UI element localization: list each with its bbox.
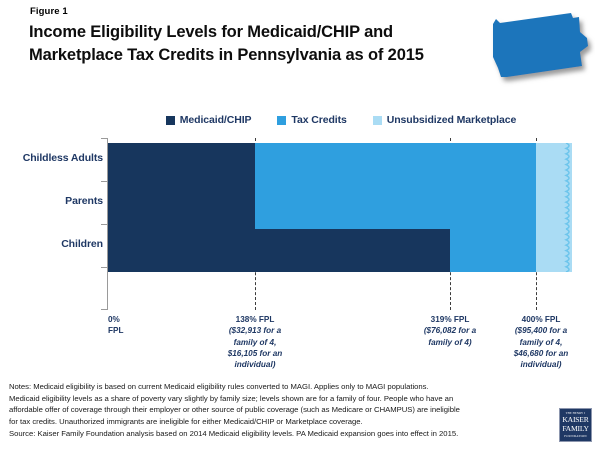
figure-canvas: Figure 1 Income Eligibility Levels for M… bbox=[0, 0, 600, 450]
chart-legend: Medicaid/CHIP Tax Credits Unsubsidized M… bbox=[108, 111, 574, 129]
bar-segment-tax-credits bbox=[255, 186, 536, 229]
bar-segment-medicaid-chip bbox=[108, 229, 450, 272]
x-axis-label-400-fpl: 400% FPL ($95,400 for a family of 4, $46… bbox=[495, 314, 587, 371]
legend-item-tax-credits: Tax Credits bbox=[277, 114, 346, 126]
title-line-2: Marketplace Tax Credits in Pennsylvania … bbox=[29, 44, 499, 67]
legend-item-unsubsidized-marketplace: Unsubsidized Marketplace bbox=[373, 114, 516, 126]
figure-number-label: Figure 1 bbox=[30, 6, 68, 17]
source-line: Source: Kaiser Family Foundation analysi… bbox=[9, 428, 560, 440]
kaiser-family-foundation-logo: THE HENRY J KAISER FAMILY FOUNDATION bbox=[559, 408, 592, 442]
legend-swatch-unsubsidized-marketplace bbox=[373, 116, 382, 125]
chart-footnotes: Notes: Medicaid eligibility is based on … bbox=[9, 381, 560, 440]
bar-row-children bbox=[108, 229, 572, 272]
bar-row-childless-adults bbox=[108, 143, 572, 186]
x-axis-label-0-fpl: 0% FPL bbox=[108, 314, 148, 337]
legend-label-unsubsidized-marketplace: Unsubsidized Marketplace bbox=[387, 114, 516, 126]
legend-label-tax-credits: Tax Credits bbox=[291, 114, 346, 126]
bar-segment-medicaid-chip bbox=[108, 186, 255, 229]
legend-swatch-medicaid-chip bbox=[166, 116, 175, 125]
logo-line-4: FOUNDATION bbox=[564, 434, 587, 438]
x-axis-label-138-fpl: 138% FPL ($32,913 for a family of 4, $16… bbox=[201, 314, 309, 371]
torn-edge-icon bbox=[564, 186, 573, 229]
category-label-parents: Parents bbox=[65, 195, 103, 207]
legend-label-medicaid-chip: Medicaid/CHIP bbox=[180, 114, 252, 126]
notes-line-1: Notes: Medicaid eligibility is based on … bbox=[9, 381, 560, 393]
torn-edge-icon bbox=[564, 229, 573, 272]
bar-segment-tax-credits bbox=[255, 143, 536, 186]
bar-segment-medicaid-chip bbox=[108, 143, 255, 186]
legend-swatch-tax-credits bbox=[277, 116, 286, 125]
y-axis-tick-top bbox=[101, 138, 107, 139]
category-label-children: Children bbox=[61, 238, 103, 250]
x-axis-label-319-fpl: 319% FPL ($76,082 for a family of 4) bbox=[404, 314, 496, 348]
page-title: Income Eligibility Levels for Medicaid/C… bbox=[29, 21, 499, 68]
category-label-childless-adults: Childless Adults bbox=[23, 152, 103, 164]
chart-plot-area: Childless Adults Parents Children bbox=[0, 130, 600, 310]
torn-edge-icon bbox=[564, 143, 573, 186]
pennsylvania-map-icon bbox=[487, 8, 595, 88]
y-axis-tick-2 bbox=[101, 224, 107, 225]
notes-line-3: affordable offer of coverage through the… bbox=[9, 404, 560, 416]
notes-line-4: for tax credits. Unauthorized immigrants… bbox=[9, 416, 560, 428]
logo-line-3: FAMILY bbox=[562, 425, 589, 434]
y-axis-tick-3 bbox=[101, 267, 107, 268]
notes-line-2: Medicaid eligibility levels as a share o… bbox=[9, 393, 560, 405]
bar-segment-tax-credits bbox=[450, 229, 536, 272]
title-line-1: Income Eligibility Levels for Medicaid/C… bbox=[29, 21, 499, 44]
y-axis-tick-bottom bbox=[101, 309, 107, 310]
bar-row-parents bbox=[108, 186, 572, 229]
legend-item-medicaid-chip: Medicaid/CHIP bbox=[166, 114, 252, 126]
y-axis-tick-1 bbox=[101, 181, 107, 182]
